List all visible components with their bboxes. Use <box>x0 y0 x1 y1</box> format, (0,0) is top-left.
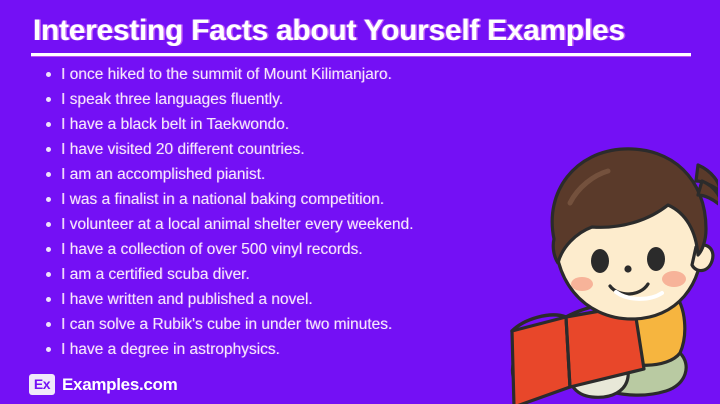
bullet-dot-icon <box>46 322 51 327</box>
fact-text: I volunteer at a local animal shelter ev… <box>61 216 413 233</box>
fact-text: I once hiked to the summit of Mount Kili… <box>61 66 392 83</box>
bullet-dot-icon <box>46 247 51 252</box>
fact-text: I have a black belt in Taekwondo. <box>61 116 289 133</box>
bullet-dot-icon <box>46 122 51 127</box>
list-item: I was a finalist in a national baking co… <box>44 187 524 212</box>
page-title: Interesting Facts about Yourself Example… <box>33 14 693 48</box>
logo-badge-icon: Ex <box>29 374 55 395</box>
fact-text: I was a finalist in a national baking co… <box>61 191 384 208</box>
list-item: I am a certified scuba diver. <box>44 262 524 287</box>
fact-text: I have a collection of over 500 vinyl re… <box>61 241 363 258</box>
bullet-dot-icon <box>46 222 51 227</box>
bullet-dot-icon <box>46 347 51 352</box>
facts-list: I once hiked to the summit of Mount Kili… <box>44 62 524 362</box>
logo-wordmark: Examples.com <box>62 375 177 395</box>
list-item: I have a collection of over 500 vinyl re… <box>44 237 524 262</box>
boy-reading-book-illustration <box>508 129 718 404</box>
list-item: I have written and published a novel. <box>44 287 524 312</box>
poster-canvas: Interesting Facts about Yourself Example… <box>0 0 720 404</box>
title-underline <box>31 53 691 56</box>
fact-text: I have visited 20 different countries. <box>61 141 305 158</box>
fact-text: I am an accomplished pianist. <box>61 166 265 183</box>
list-item: I have a black belt in Taekwondo. <box>44 112 524 137</box>
bullet-dot-icon <box>46 97 51 102</box>
bullet-dot-icon <box>46 72 51 77</box>
bullet-dot-icon <box>46 172 51 177</box>
fact-text: I speak three languages fluently. <box>61 91 283 108</box>
fact-text: I have a degree in astrophysics. <box>61 341 280 358</box>
bullet-dot-icon <box>46 147 51 152</box>
list-item: I once hiked to the summit of Mount Kili… <box>44 62 524 87</box>
list-item: I have a degree in astrophysics. <box>44 337 524 362</box>
bullet-dot-icon <box>46 197 51 202</box>
list-item: I speak three languages fluently. <box>44 87 524 112</box>
fact-text: I am a certified scuba diver. <box>61 266 250 283</box>
site-logo[interactable]: Ex Examples.com <box>29 374 177 395</box>
bullet-dot-icon <box>46 297 51 302</box>
fact-text: I can solve a Rubik's cube in under two … <box>61 316 392 333</box>
list-item: I can solve a Rubik's cube in under two … <box>44 312 524 337</box>
fact-text: I have written and published a novel. <box>61 291 313 308</box>
bullet-dot-icon <box>46 272 51 277</box>
list-item: I am an accomplished pianist. <box>44 162 524 187</box>
list-item: I volunteer at a local animal shelter ev… <box>44 212 524 237</box>
list-item: I have visited 20 different countries. <box>44 137 524 162</box>
